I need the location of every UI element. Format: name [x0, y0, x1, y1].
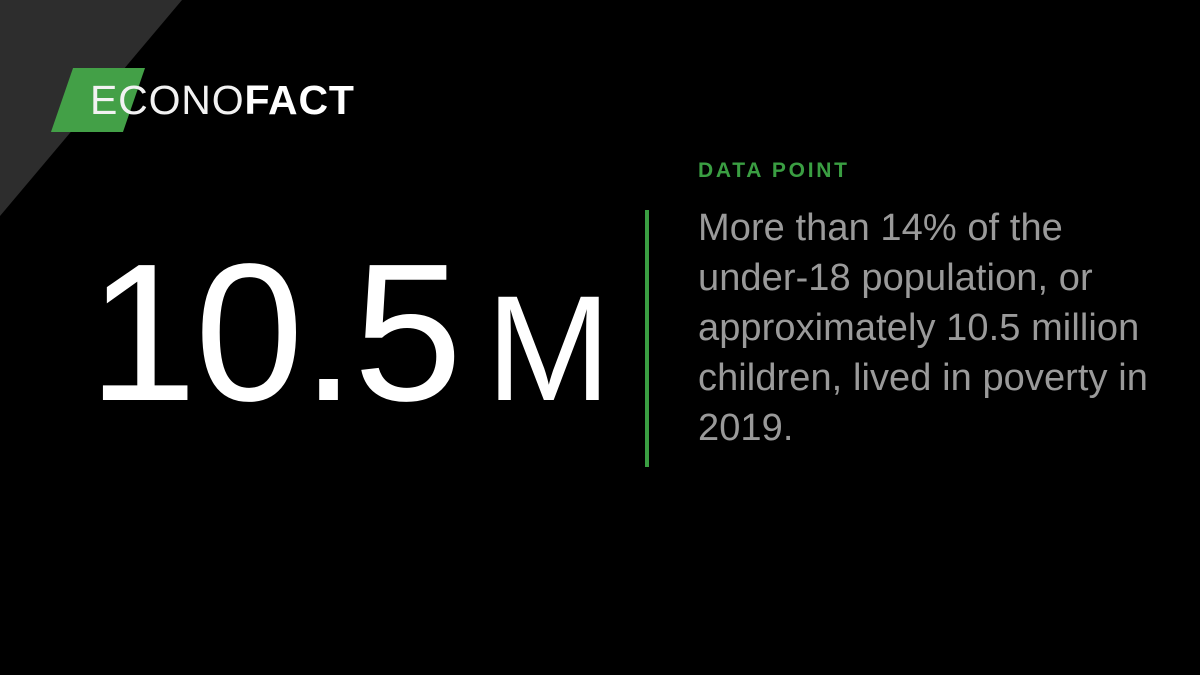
econofact-logo[interactable]: ECONOFACT	[62, 66, 355, 134]
body-text: More than 14% of the under-18 population…	[698, 203, 1148, 453]
logo-wordmark-light: ECONO	[90, 77, 244, 123]
logo-wordmark-bold: FACT	[244, 77, 354, 123]
statistic-display: 10.5 M	[88, 248, 608, 418]
data-point-card: ECONOFACT 10.5 M DATA POINT More than 14…	[0, 0, 1200, 675]
vertical-divider	[645, 210, 649, 467]
text-panel: DATA POINT More than 14% of the under-18…	[698, 160, 1148, 453]
statistic-value: 10.5	[88, 248, 460, 418]
statistic-unit: M	[486, 263, 609, 433]
section-kicker: DATA POINT	[698, 160, 1148, 181]
logo-wordmark: ECONOFACT	[90, 68, 355, 132]
